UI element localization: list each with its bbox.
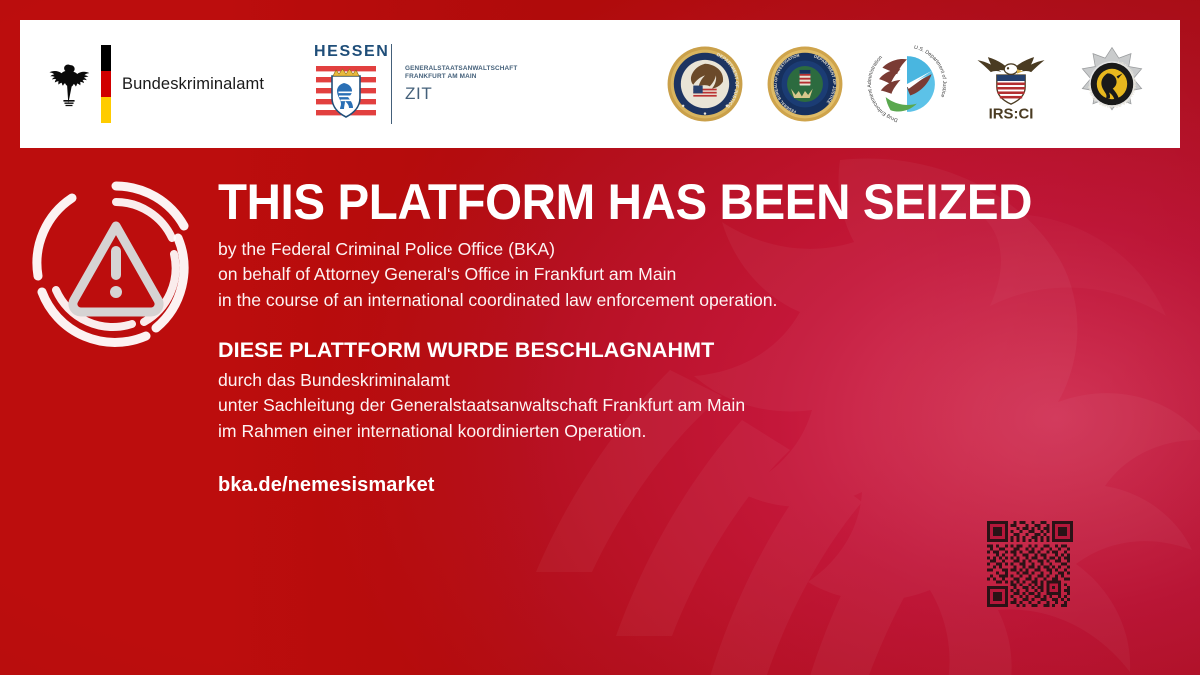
european-agency-logos: Bundeskriminalamt HESSEN — [20, 44, 517, 124]
office-line-2: FRANKFURT AM MAIN — [405, 73, 517, 81]
us-agency-seals: DEPARTMENT OF JUSTICE — [666, 43, 1180, 125]
german-flag-bar — [101, 45, 111, 123]
office-line-1: GENERALSTAATSANWALTSCHAFT — [405, 65, 517, 73]
bundesadler-eagle-icon — [48, 61, 90, 107]
hessen-zit-logo: HESSEN — [314, 44, 517, 124]
hessen-mark: HESSEN — [314, 44, 378, 124]
english-line-3: in the course of an international coordi… — [218, 288, 1118, 313]
seizure-notice-page: Bundeskriminalamt HESSEN — [0, 0, 1200, 675]
english-paragraph: by the Federal Criminal Police Office (B… — [218, 237, 1118, 313]
german-line-2: unter Sachleitung der Generalstaatsanwal… — [218, 393, 1118, 418]
bka-logo: Bundeskriminalamt — [48, 45, 264, 123]
bka-wordmark: Bundeskriminalamt — [122, 75, 264, 94]
irs-ci-seal: IRS:CI — [970, 44, 1052, 124]
zit-wordmark: ZIT — [405, 85, 517, 104]
fbi-seal: DEPARTMENT OF JUSTICE FEDERAL BUREAU OF … — [766, 45, 844, 123]
german-paragraph: durch das Bundeskriminalamt unter Sachle… — [218, 368, 1118, 444]
hessen-coat-of-arms-icon — [314, 64, 378, 124]
agency-logo-header: Bundeskriminalamt HESSEN — [20, 20, 1180, 148]
doj-seal: DEPARTMENT OF JUSTICE — [666, 45, 744, 123]
english-line-2: on behalf of Attorney General‘s Office i… — [218, 262, 1118, 287]
dea-seal: U.S. Department of Justice Drug Enforcem… — [866, 43, 948, 125]
warning-triangle-icon — [28, 176, 204, 352]
zit-office-block: GENERALSTAATSANWALTSCHAFT FRANKFURT AM M… — [405, 65, 517, 104]
bka-url-link[interactable]: bka.de/nemesismarket — [218, 474, 1118, 497]
page-title: THIS PLATFORM HAS BEEN SEIZED — [218, 176, 1073, 228]
german-line-1: durch das Bundeskriminalamt — [218, 368, 1118, 393]
german-headline: DIESE PLATTFORM WURDE BESCHLAGNAHMT — [218, 338, 1118, 363]
qr-code-bka-nemesismarket[interactable] — [987, 521, 1073, 607]
german-line-3: im Rahmen einer international koordinier… — [218, 419, 1118, 444]
english-line-1: by the Federal Criminal Police Office (B… — [218, 237, 1118, 262]
logo-divider — [391, 44, 392, 124]
lithuanian-criminal-police-seal: LIETUVOS KRIMINALINES POLICIJOS BIURAS — [1074, 46, 1150, 122]
irs-ci-wordmark: IRS:CI — [989, 106, 1034, 122]
hessen-wordmark: HESSEN — [314, 44, 378, 60]
seizure-notice-text: THIS PLATFORM HAS BEEN SEIZED by the Fed… — [218, 176, 1118, 497]
